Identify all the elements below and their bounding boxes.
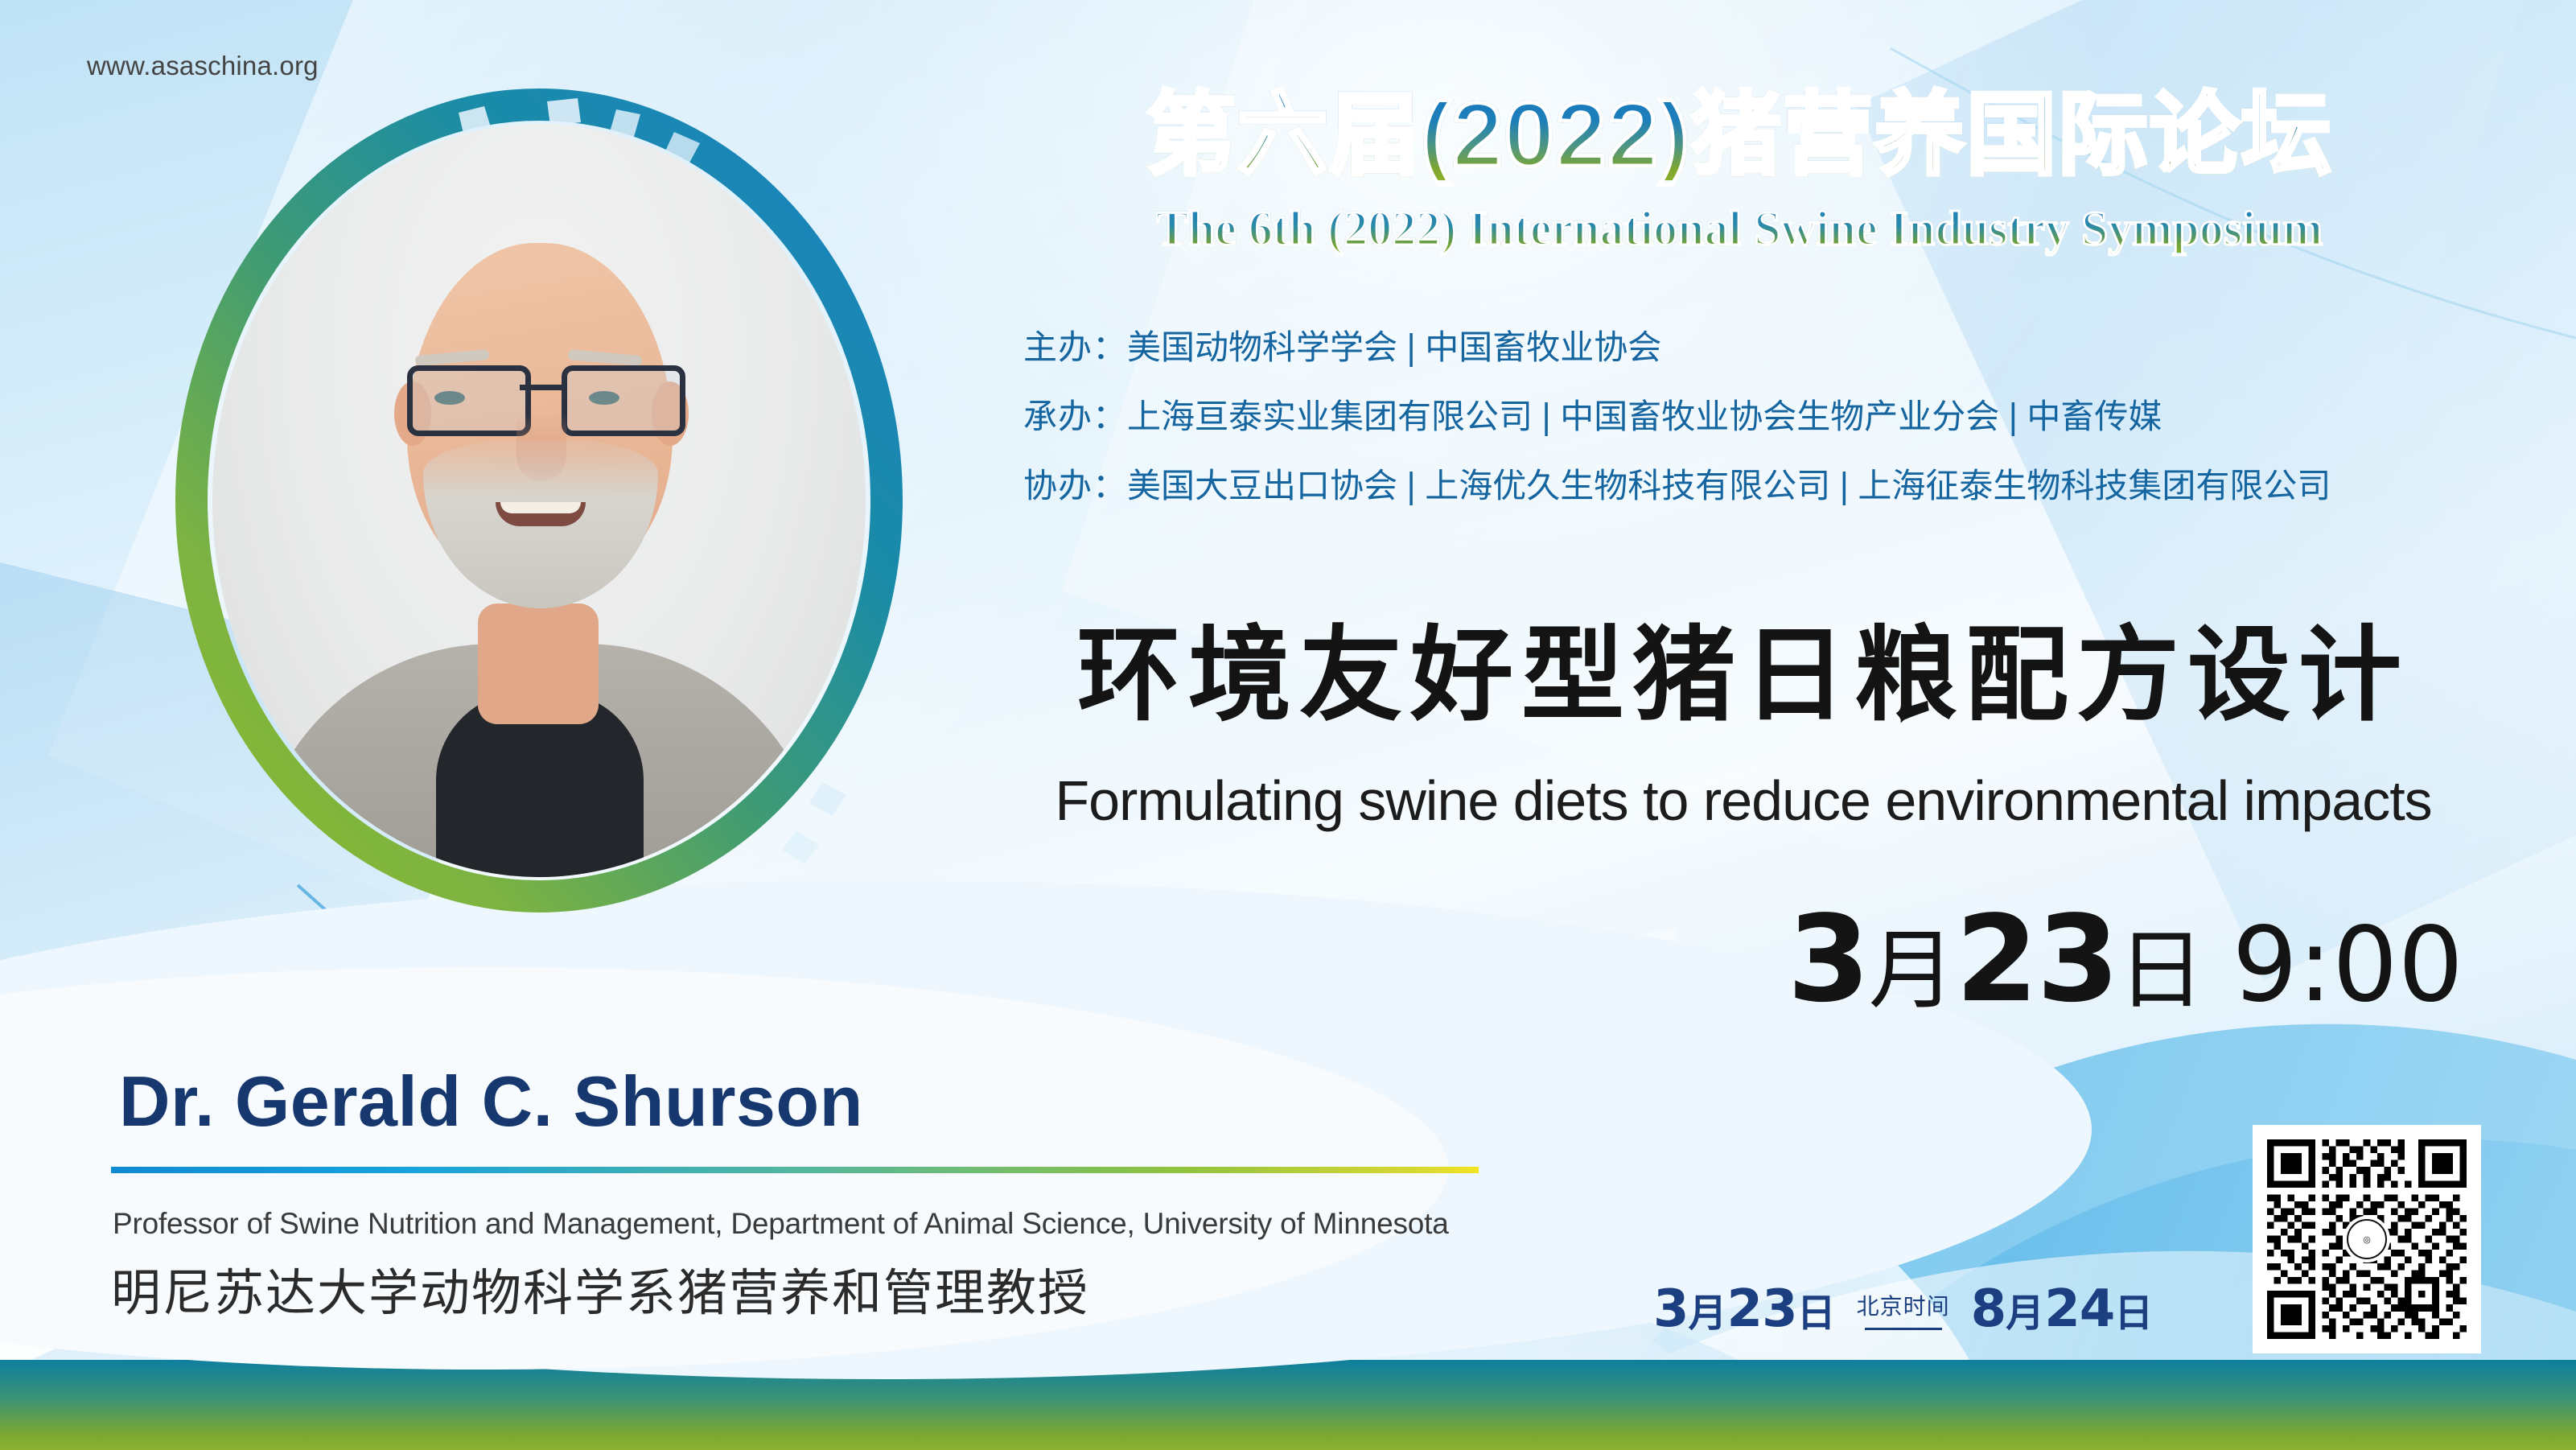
event-title-en: The 6th (2022) International Swine Indus… — [1023, 204, 2455, 253]
event-poster: www.asaschina.org — [0, 0, 2576, 1450]
range-start-day: 23 — [1727, 1279, 1797, 1339]
organizer-entity: 中畜传媒 — [2027, 397, 2162, 436]
speaker-photo — [212, 124, 866, 877]
speaker-divider — [111, 1167, 1479, 1173]
range-end-month-char: 月 — [2006, 1281, 2044, 1337]
organizer-entity: 上海亘泰实业集团有限公司 — [1127, 397, 1533, 436]
session-datetime: 3月23日9:00 — [1023, 900, 2463, 1019]
qr-code-icon[interactable]: ◎ — [2267, 1139, 2467, 1339]
event-date-range: 3月23日 北京时间 8月24日 — [1653, 1273, 2249, 1345]
separator-pipe: | — [1830, 466, 1858, 505]
range-end-month: 8 — [1971, 1279, 2006, 1339]
organizer-entity: 上海优久生物科技有限公司 — [1425, 466, 1830, 505]
organizer-label-cooperator: 协办： — [1023, 466, 1127, 505]
separator-pipe: | — [1397, 466, 1425, 505]
session-month-char: 月 — [1869, 921, 1956, 1021]
separator-pipe: | — [1533, 397, 1560, 436]
range-start-month-char: 月 — [1689, 1281, 1727, 1337]
organizer-entity: 中国畜牧业协会生物产业分会 — [1560, 397, 1999, 436]
qr-center-logo: ◎ — [2344, 1216, 2390, 1263]
organizer-label-undertaker: 承办： — [1023, 397, 1127, 436]
session-day-char: 日 — [2118, 921, 2205, 1021]
session-month-number: 3 — [1788, 890, 1869, 1028]
event-title-cn: 第六届(2022)猪营养国际论坛 — [1023, 90, 2455, 180]
range-end-day-char: 日 — [2114, 1281, 2153, 1337]
speaker-portrait — [169, 74, 909, 927]
speaker-title-cn: 明尼苏达大学动物科学系猪营养和管理教授 — [111, 1252, 1089, 1324]
organizer-entity: 中国畜牧业协会 — [1425, 327, 1661, 367]
organizer-line-undertaker: 承办：上海亘泰实业集团有限公司|中国畜牧业协会生物产业分会|中畜传媒 — [1023, 389, 2162, 439]
qr-logo-glyph: ◎ — [2347, 1219, 2387, 1259]
portrait-neck — [478, 603, 599, 724]
organizer-entity: 美国大豆出口协会 — [1127, 466, 1397, 505]
topic-title-en: Formulating swine diets to reduce enviro… — [1023, 772, 2463, 829]
speaker-title-en: Professor of Swine Nutrition and Managem… — [113, 1207, 1449, 1241]
timezone-note: 北京时间 — [1857, 1289, 1950, 1330]
range-start-day-char: 日 — [1797, 1281, 1836, 1337]
range-end-day: 24 — [2044, 1279, 2114, 1339]
session-time: 9:00 — [2232, 905, 2463, 1025]
separator-pipe: | — [1397, 327, 1425, 367]
bottom-gradient-bar — [0, 1360, 2576, 1450]
separator-pipe: | — [1999, 397, 2027, 436]
range-start-month: 3 — [1653, 1279, 1689, 1339]
session-day-number: 23 — [1956, 890, 2118, 1028]
organizer-entity: 上海征泰生物科技集团有限公司 — [1858, 466, 2331, 505]
organizer-line-cooperator: 协办：美国大豆出口协会|上海优久生物科技有限公司|上海征泰生物科技集团有限公司 — [1023, 459, 2331, 508]
topic-title-cn: 环境友好型猪日粮配方设计 — [1023, 624, 2463, 727]
portrait-teeth — [500, 502, 581, 513]
organizer-entity: 美国动物科学学会 — [1127, 327, 1397, 367]
organizer-line-host: 主办：美国动物科学学会|中国畜牧业协会 — [1023, 320, 1661, 369]
qr-code-panel[interactable]: ◎ — [2253, 1125, 2481, 1353]
organizer-label-host: 主办： — [1023, 327, 1127, 367]
timezone-label: 北京时间 — [1857, 1289, 1950, 1321]
timezone-underline — [1865, 1328, 1942, 1330]
speaker-name: Dr. Gerald C. Shurson — [119, 1061, 863, 1143]
